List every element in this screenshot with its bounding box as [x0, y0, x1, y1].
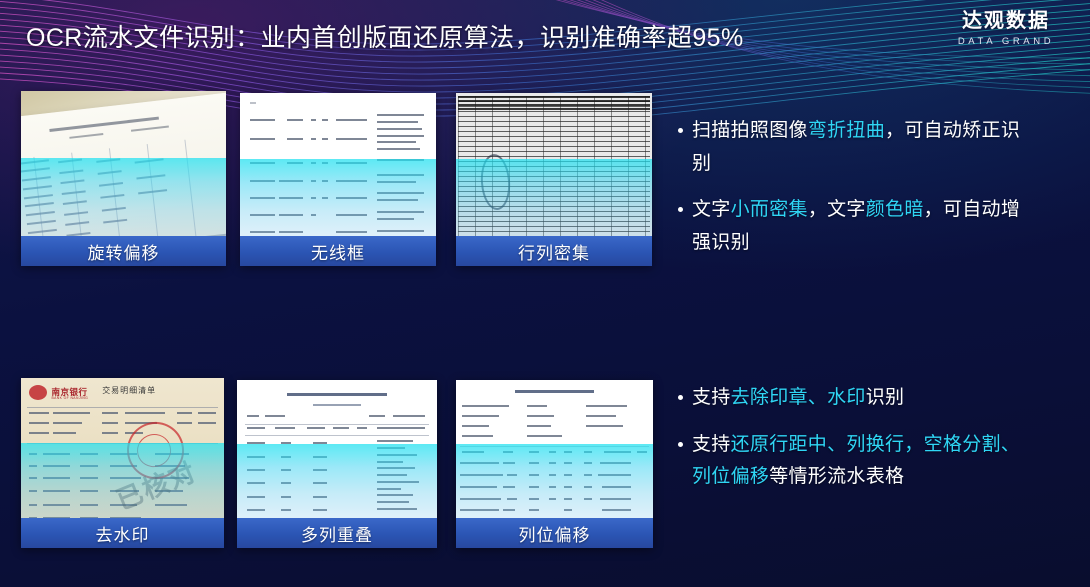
thumbnail-caption: 列位偏移 — [456, 518, 653, 548]
thumbnail-column-shift[interactable]: 列位偏移 — [456, 380, 653, 548]
thumbnail-caption: 多列重叠 — [237, 518, 437, 548]
plain-term: 识别 — [866, 387, 905, 408]
highlighted-term: 颜色暗 — [866, 199, 924, 220]
thumbnail-caption: 行列密集 — [456, 236, 652, 266]
bullet-dot-icon — [678, 395, 683, 400]
highlighted-term: 小而密集 — [731, 199, 808, 220]
feature-text: 扫描拍照图像弯折扭曲，可自动矫正识别 — [692, 115, 1032, 180]
plain-term: 文字 — [692, 199, 731, 220]
feature-text: 支持还原行距中、列换行，空格分割、列位偏移等情形流水表格 — [692, 429, 1032, 494]
feature-list-top: 扫描拍照图像弯折扭曲，可自动矫正识别 文字小而密集，文字颜色暗，可自动增强识别 — [678, 115, 1078, 274]
bullet-dot-icon — [678, 207, 683, 212]
brand-logo-en: DATA GRAND — [940, 36, 1072, 47]
page-title: OCR流水文件识别：业内首创版面还原算法，识别准确率超95% — [26, 18, 744, 54]
feature-list-bottom: 支持去除印章、水印识别 支持还原行距中、列换行，空格分割、列位偏移等情形流水表格 — [678, 382, 1078, 508]
plain-term: 等情形流水表格 — [769, 466, 904, 487]
thumbnail-borderless[interactable]: 无线框 — [240, 93, 436, 266]
header: OCR流水文件识别：业内首创版面还原算法，识别准确率超95% — [26, 10, 906, 62]
plain-term: ，文字 — [808, 199, 866, 220]
thumbnail-remove-watermark[interactable]: 南京银行 BANK OF NANJING 交易明细清单 — [21, 378, 224, 548]
feature-text: 支持去除印章、水印识别 — [692, 382, 904, 415]
list-item: 支持去除印章、水印识别 — [678, 382, 1078, 415]
list-item: 支持还原行距中、列换行，空格分割、列位偏移等情形流水表格 — [678, 429, 1078, 494]
feature-text: 文字小而密集，文字颜色暗，可自动增强识别 — [692, 194, 1032, 259]
statement-title: 交易明细清单 — [102, 385, 156, 396]
thumbnail-overlapping-columns[interactable]: 多列重叠 — [237, 380, 437, 548]
bank-name-en: BANK OF NANJING — [51, 396, 88, 400]
plain-term: 支持 — [692, 387, 731, 408]
thumbnail-caption: 无线框 — [240, 236, 436, 266]
thumbnail-rotated-offset[interactable]: 旋转偏移 — [21, 91, 226, 266]
thumbnail-caption: 去水印 — [21, 518, 224, 548]
list-item: 扫描拍照图像弯折扭曲，可自动矫正识别 — [678, 115, 1078, 180]
plain-term: 扫描拍照图像 — [692, 120, 808, 141]
plain-term: 支持 — [692, 434, 731, 455]
bullet-dot-icon — [678, 128, 683, 133]
bullet-dot-icon — [678, 442, 683, 447]
brand-logo-cn: 达观数据 — [940, 10, 1072, 33]
thumbnail-dense-grid[interactable]: 行列密集 — [456, 93, 652, 266]
brand-logo: 达观数据 DATA GRAND — [940, 10, 1072, 47]
highlighted-term: 弯折扭曲 — [808, 120, 885, 141]
list-item: 文字小而密集，文字颜色暗，可自动增强识别 — [678, 194, 1078, 259]
slide-root: OCR流水文件识别：业内首创版面还原算法，识别准确率超95% 达观数据 DATA… — [0, 0, 1090, 587]
thumbnail-caption: 旋转偏移 — [21, 236, 226, 266]
highlighted-term: 去除印章、水印 — [731, 387, 866, 408]
